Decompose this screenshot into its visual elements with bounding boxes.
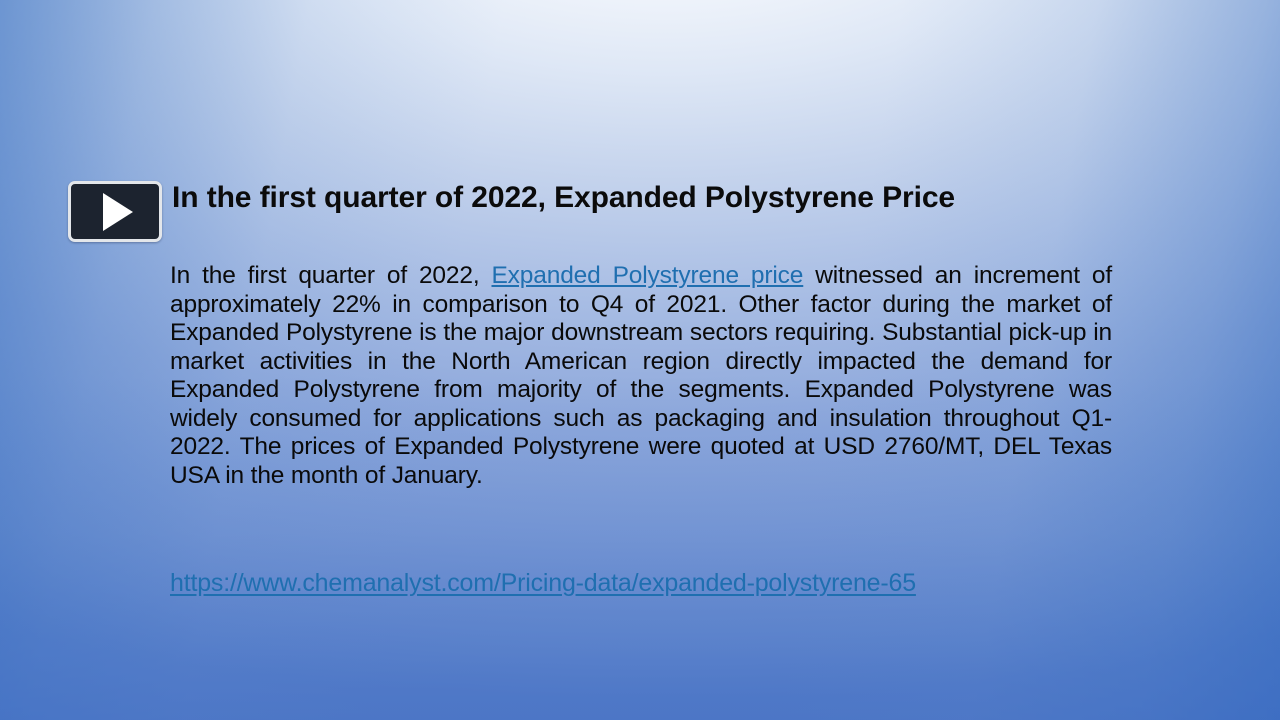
source-url-link[interactable]: https://www.chemanalyst.com/Pricing-data… <box>170 568 916 598</box>
play-icon <box>103 193 133 231</box>
expanded-polystyrene-price-link[interactable]: Expanded Polystyrene price <box>491 262 803 289</box>
slide-title: In the first quarter of 2022, Expanded P… <box>172 178 1132 218</box>
body-text-segment-1: In the first quarter of 2022, <box>170 262 491 289</box>
slide-canvas: In the first quarter of 2022, Expanded P… <box>0 0 1280 720</box>
body-paragraph: In the first quarter of 2022, Expanded P… <box>170 262 1112 490</box>
body-text-segment-2: witnessed an increment of approximately … <box>170 262 1112 489</box>
play-video-button[interactable] <box>68 181 162 242</box>
slide-content: In the first quarter of 2022, Expanded P… <box>0 0 1280 720</box>
